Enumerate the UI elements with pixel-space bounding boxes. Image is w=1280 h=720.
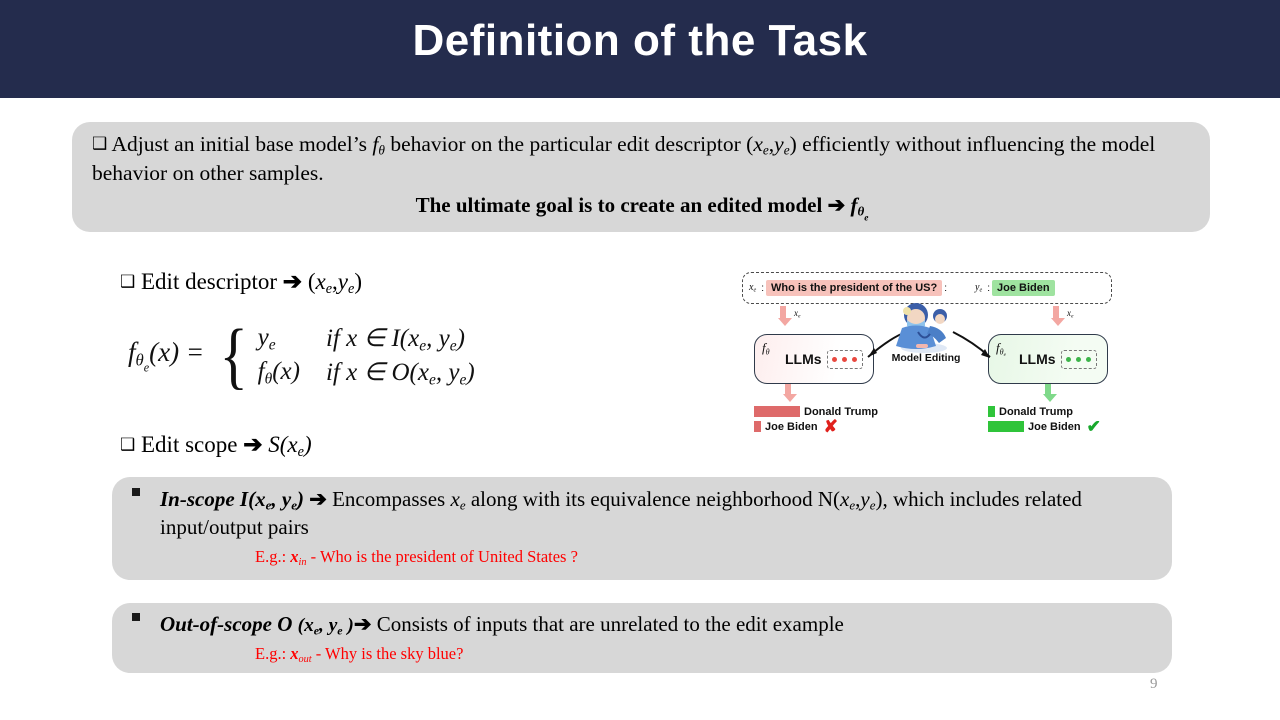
bar-label: Donald Trump — [804, 406, 878, 418]
eq-x: (x) — [149, 337, 179, 367]
is-desc-b: along with its equivalence neighborhood — [466, 487, 818, 511]
bar-joe-biden — [988, 421, 1024, 432]
row2-f: f — [258, 358, 265, 385]
pair-x: x — [753, 132, 763, 156]
out-of-scope-text: Out-of-scope O (xe, ye )➔ Consists of in… — [160, 611, 1135, 666]
eg-var-sub: out — [299, 654, 312, 665]
eq-row2-cond: if x ∈ O(xe, ye) — [300, 356, 475, 390]
bar-label: Donald Trump — [999, 406, 1073, 418]
arrow-icon: ➔ — [309, 488, 327, 511]
is-comma: , — [271, 487, 282, 511]
out-scope-term: Out-of-scope O — [160, 612, 298, 636]
eg-text: - Who is the president of United States … — [307, 547, 578, 566]
is-n-close: ), — [876, 487, 888, 511]
arrow-icon: ➔ — [354, 613, 372, 636]
square-bullet-icon — [132, 488, 140, 496]
ultimate-goal-line: The ultimate goal is to create an edited… — [92, 192, 1192, 225]
edit-scope-line: ❑ Edit scope ➔ S(xe) — [120, 431, 312, 461]
ed-y: y — [338, 269, 348, 294]
eq-theta: θ — [136, 351, 144, 370]
os-x: x — [304, 615, 314, 636]
row1-y: y — [258, 324, 269, 351]
scope-s: S( — [262, 432, 287, 457]
in-scope-term: In-scope I( — [160, 487, 255, 511]
diagram-y-label: ye — [975, 282, 982, 294]
eg-prefix: E.g.: — [255, 644, 290, 663]
checkbox-bullet-icon: ❑ — [120, 272, 135, 291]
is-desc-x: x — [450, 487, 459, 511]
equation-cases: ye if x ∈ I(xe, ye) fθ(x) if x ∈ O(xe, y… — [258, 322, 475, 391]
os-close: ) — [343, 615, 354, 636]
row1-cond-s2: e — [450, 337, 457, 354]
definition-panel: ❑ Adjust an initial base model’s fθ beha… — [72, 122, 1210, 232]
eg-text: - Why is the sky blue? — [312, 644, 464, 663]
diagram-x-label: xe — [749, 282, 756, 294]
question-chip: Who is the president of the US? — [766, 280, 942, 296]
edited-model-result: Donald Trump Joe Biden ✔ — [988, 404, 1138, 434]
pair-close: ) — [790, 132, 797, 156]
ed-open: ( — [302, 269, 315, 294]
eg-var: x — [290, 547, 298, 566]
piecewise-equation: fθe(x) = { ye if x ∈ I(xe, ye) fθ(x) if … — [128, 322, 475, 391]
is-desc-a: Encompasses — [327, 487, 451, 511]
is-x: x — [255, 487, 266, 511]
result-bar-row: Donald Trump — [988, 404, 1138, 419]
colon-3: : — [987, 283, 990, 294]
row2-cond-mid: , y — [436, 359, 460, 386]
equation-row: fθ(x) if x ∈ O(xe, ye) — [258, 356, 475, 390]
in-scope-panel: In-scope I(xe, ye) ➔ Encompasses xe alon… — [112, 477, 1172, 580]
in-scope-example: E.g.: xin - Who is the president of Unit… — [160, 546, 1135, 569]
eq-row2-value: fθ(x) — [258, 356, 300, 390]
eg-var-sub: in — [299, 556, 307, 567]
eq-row1-value: ye — [258, 322, 300, 356]
equation-lhs: fθe(x) = — [128, 337, 204, 375]
out-of-scope-row: Out-of-scope O (xe, ye )➔ Consists of in… — [132, 611, 1152, 666]
down-arrow-left-result-icon — [783, 384, 793, 402]
out-of-scope-example: E.g.: xout - Why is the sky blue? — [160, 643, 1135, 666]
row1-cond-end: ) — [457, 325, 465, 352]
bar-label: Joe Biden — [765, 421, 818, 433]
checkbox-bullet-icon: ❑ — [92, 134, 107, 153]
os-comma: , — [319, 615, 329, 636]
edit-descriptor-line: ❑ Edit descriptor ➔ (xe,ye) — [120, 268, 362, 298]
model-editing-diagram: xe : Who is the president of the US? : y… — [738, 272, 1123, 452]
model-editing-label: Model Editing — [876, 352, 976, 364]
eg-prefix: E.g.: — [255, 547, 290, 566]
equation-row: ye if x ∈ I(xe, ye) — [258, 322, 475, 356]
row1-cond: if x ∈ I(x — [326, 325, 419, 352]
goal-e: e — [864, 214, 868, 224]
cross-icon: ✘ — [824, 417, 838, 437]
bar-donald-trump — [988, 406, 995, 417]
is-neighborhood: N( — [818, 487, 840, 511]
ed-x: x — [316, 269, 326, 294]
row2-x: (x) — [272, 358, 300, 385]
definition-line-a: Adjust an initial base model’s — [111, 132, 372, 156]
os-y: y — [329, 615, 338, 636]
colon-2: : — [944, 283, 947, 294]
pair-y: y — [774, 132, 784, 156]
dy-sub: e — [979, 287, 982, 294]
checkbox-bullet-icon: ❑ — [120, 435, 135, 454]
os-desc: Consists of inputs that are unrelated to… — [371, 612, 843, 636]
is-n-x: x — [840, 487, 849, 511]
row2-cond-s1: e — [429, 372, 436, 389]
definition-text: ❑ Adjust an initial base model’s fθ beha… — [92, 130, 1192, 225]
scope-close: ) — [304, 432, 312, 457]
eq-f: f — [128, 337, 136, 367]
arrow-icon: ➔ — [243, 431, 262, 457]
bar-joe-biden — [754, 421, 761, 432]
curly-brace-icon: { — [220, 330, 248, 383]
base-model-result: Donald Trump Joe Biden ✘ — [754, 404, 904, 434]
row2-cond-end: ) — [466, 359, 474, 386]
square-bullet-icon — [132, 613, 140, 621]
arrow-icon: ➔ — [828, 194, 846, 217]
definition-line-b: behavior on the particular edit descript… — [385, 132, 746, 156]
down-arrow-right-result-icon — [1043, 384, 1053, 402]
result-bar-row: Joe Biden ✘ — [754, 419, 904, 434]
edit-descriptor-label: Edit descriptor — [141, 269, 283, 294]
eg-var: x — [290, 644, 298, 663]
is-close: ) — [297, 487, 304, 511]
dx-sub: e — [753, 287, 756, 294]
page-number: 9 — [1150, 676, 1158, 693]
row1-y-sub: e — [269, 336, 276, 353]
answer-chip: Joe Biden — [992, 280, 1055, 296]
ed-close: ) — [354, 269, 362, 294]
row2-cond: if x ∈ O(x — [326, 359, 429, 386]
row1-cond-mid: , y — [426, 325, 450, 352]
edit-scope-label: Edit scope — [141, 432, 243, 457]
result-bar-row: Joe Biden ✔ — [988, 419, 1138, 434]
in-scope-text: In-scope I(xe, ye) ➔ Encompasses xe alon… — [160, 486, 1135, 569]
bar-donald-trump — [754, 406, 800, 417]
colon-1: : — [761, 283, 764, 294]
check-icon: ✔ — [1087, 417, 1101, 437]
out-of-scope-panel: Out-of-scope O (xe, ye )➔ Consists of in… — [112, 603, 1172, 673]
eq-equals: = — [186, 337, 204, 367]
goal-text: The ultimate goal is to create an edited… — [416, 193, 828, 217]
is-n-y: y — [860, 487, 869, 511]
arrow-icon: ➔ — [283, 268, 302, 294]
scope-x: x — [287, 432, 297, 457]
edit-descriptor-box: xe : Who is the president of the US? : y… — [742, 272, 1112, 304]
is-y: y — [282, 487, 291, 511]
in-scope-row: In-scope I(xe, ye) ➔ Encompasses xe alon… — [132, 486, 1152, 569]
bar-label: Joe Biden — [1028, 421, 1081, 433]
surgeon-mascot-icon — [888, 302, 960, 354]
page-title: Definition of the Task — [0, 16, 1280, 66]
eq-row1-cond: if x ∈ I(xe, ye) — [300, 322, 475, 356]
